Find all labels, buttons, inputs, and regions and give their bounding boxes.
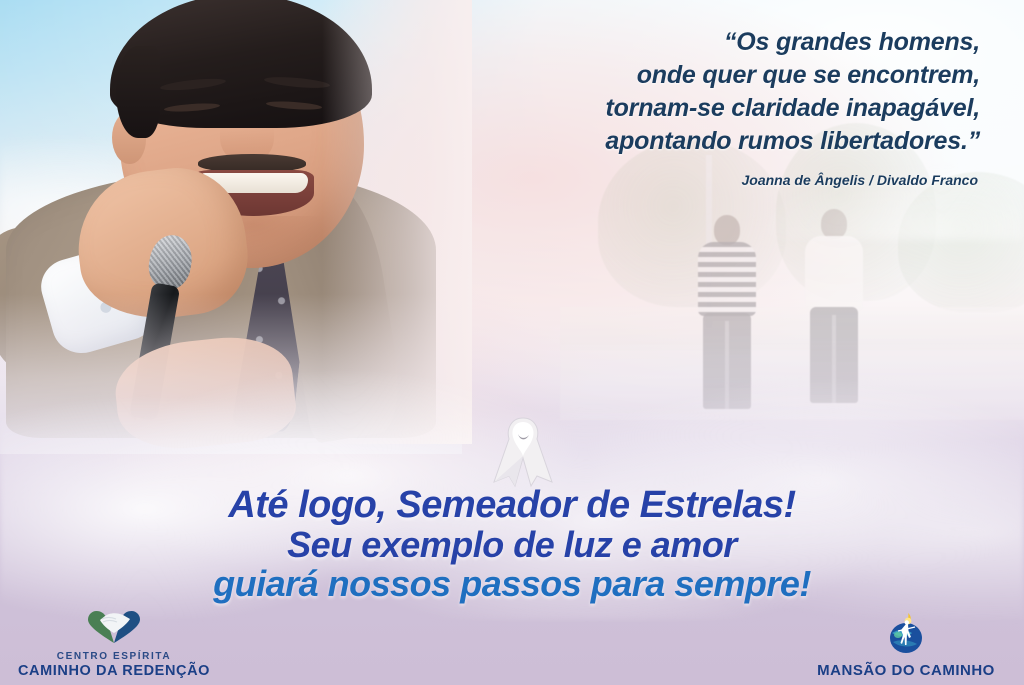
figure-torso-striped [698, 242, 756, 316]
quote-line-2: onde quer que se encontrem, [440, 59, 980, 92]
headline-line-3: guiará nossos passos para sempre! [0, 564, 1024, 603]
logo-centro-espirita[interactable]: CENTRO ESPÍRITA CAMINHO DA REDENÇÃO [8, 610, 220, 679]
quote-attribution: Joanna de Ângelis / Divaldo Franco [438, 172, 978, 188]
mourning-ribbon-icon [482, 412, 564, 490]
quote-line-4: apontando rumos libertadores.” [440, 125, 980, 158]
logo-right-line-1: MANSÃO DO CAMINHO [802, 662, 1010, 679]
figure-torso-plain [805, 236, 863, 310]
globe-torch-figure-icon [802, 613, 1010, 660]
heart-hand-icon [8, 610, 220, 649]
logo-left-line-1: CENTRO ESPÍRITA [8, 651, 220, 663]
memorial-poster: “Os grandes homens, onde quer que se enc… [0, 0, 1024, 685]
headline-line-1: Até logo, Semeador de Estrelas! [0, 486, 1024, 525]
logo-mansao-do-caminho[interactable]: MANSÃO DO CAMINHO [802, 613, 1010, 679]
headline-line-2: Seu exemplo de luz e amor [0, 525, 1024, 564]
quote-line-1: “Os grandes homens, [440, 26, 980, 59]
headline-text: Até logo, Semeador de Estrelas! Seu exem… [0, 486, 1024, 603]
quote-text: “Os grandes homens, onde quer que se enc… [440, 26, 980, 158]
quote-line-3: tornam-se claridade inapagável, [440, 92, 980, 125]
logo-left-line-2: CAMINHO DA REDENÇÃO [8, 663, 220, 679]
